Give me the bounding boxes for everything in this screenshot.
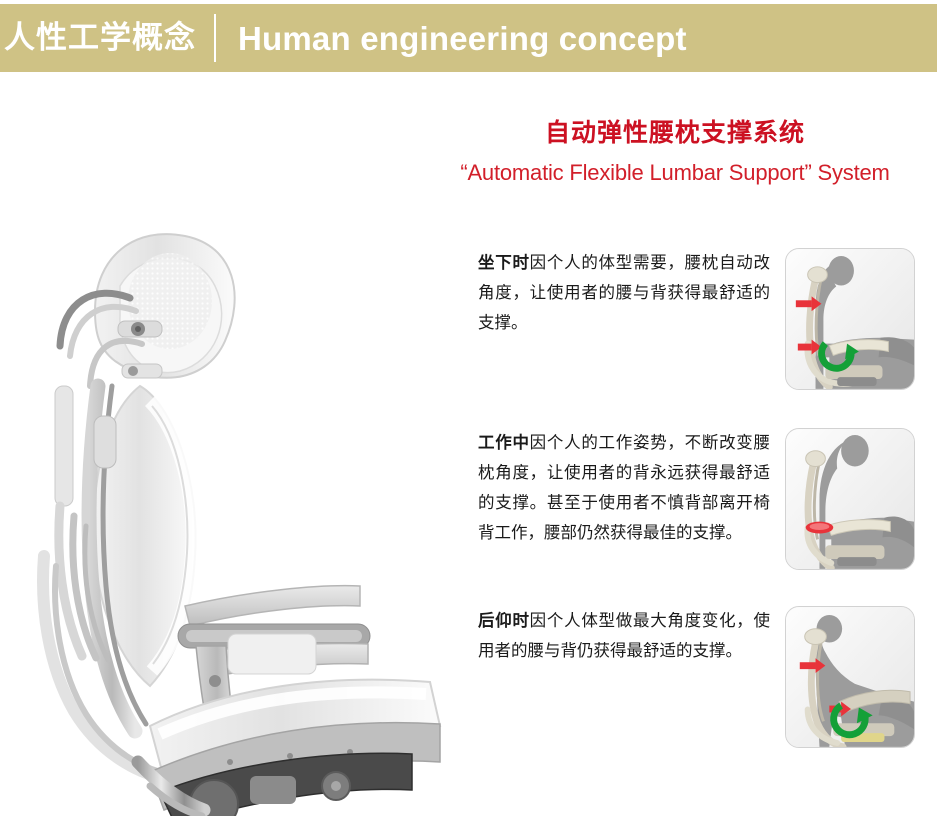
section-title-chinese: 自动弹性腰枕支撑系统 — [415, 118, 935, 148]
header-title-english: Human engineering concept — [238, 22, 687, 55]
lumbar-support-sitting-down-thumbnail — [785, 248, 915, 390]
feature-row: 坐下时因个人的体型需要，腰枕自动改角度，让使用者的腰与背获得最舒适的支撑。 — [478, 248, 928, 390]
feature-text-sitting-down: 坐下时因个人的体型需要，腰枕自动改角度，让使用者的腰与背获得最舒适的支撑。 — [478, 248, 770, 338]
feature-list: 坐下时因个人的体型需要，腰枕自动改角度，让使用者的腰与背获得最舒适的支撑。 — [478, 248, 928, 748]
feature-lead-working: 工作中 — [478, 433, 530, 452]
feature-text-working: 工作中因个人的工作姿势，不断改变腰枕角度，让使用者的背永远获得最舒适的支撑。甚至… — [478, 428, 770, 548]
feature-lead-reclining: 后仰时 — [478, 611, 530, 630]
ergonomic-mesh-chair-side-view-photo — [0, 86, 460, 816]
section-title-english: “Automatic Flexible Lumbar Support” Syst… — [415, 160, 935, 186]
page-header-band: 人性工学概念 Human engineering concept — [0, 4, 937, 72]
section-title-block: 自动弹性腰枕支撑系统 “Automatic Flexible Lumbar Su… — [415, 118, 935, 186]
feature-row: 后仰时因个人体型做最大角度变化，使用者的腰与背仍获得最舒适的支撑。 — [478, 606, 928, 748]
feature-lead-sitting-down: 坐下时 — [478, 253, 530, 272]
lumbar-support-working-thumbnail — [785, 428, 915, 570]
feature-text-reclining: 后仰时因个人体型做最大角度变化，使用者的腰与背仍获得最舒适的支撑。 — [478, 606, 770, 666]
header-divider — [214, 14, 216, 62]
feature-row: 工作中因个人的工作姿势，不断改变腰枕角度，让使用者的背永远获得最舒适的支撑。甚至… — [478, 428, 928, 570]
poster-page: 人性工学概念 Human engineering concept — [0, 0, 937, 816]
header-title-chinese: 人性工学概念 — [4, 23, 196, 54]
lumbar-support-reclining-thumbnail — [785, 606, 915, 748]
